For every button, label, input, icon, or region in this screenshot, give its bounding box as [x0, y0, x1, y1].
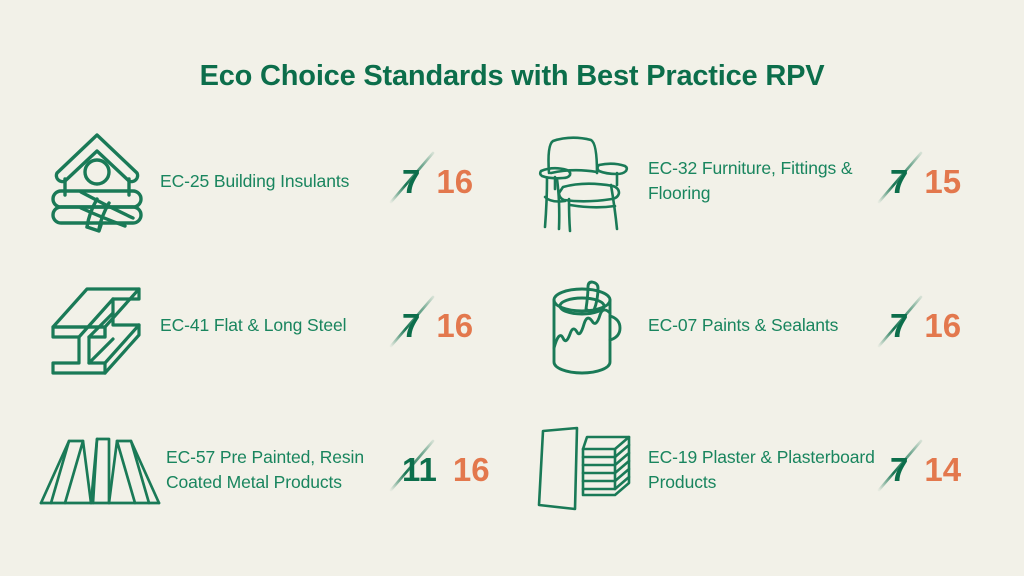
standard-card-ec25[interactable]: EC-25 Building Insulants [28, 109, 508, 253]
rpv-orange-value: 16 [924, 309, 961, 342]
standard-metrics: 7 16 [398, 159, 502, 204]
rpv-green-value-wrap: 7 [886, 303, 910, 348]
steel-beam-icon [34, 271, 160, 379]
rpv-orange-value: 15 [924, 165, 961, 198]
rpv-green-value-wrap: 7 [886, 159, 910, 204]
standard-label: EC-57 Pre Painted, Resin Coated Metal Pr… [166, 445, 398, 495]
standard-metrics: 7 16 [398, 303, 502, 348]
standard-card-ec32[interactable]: EC-32 Furniture, Fittings & Flooring 7 1… [516, 109, 996, 253]
rpv-green-value: 11 [402, 451, 437, 488]
standard-card-ec41[interactable]: EC-41 Flat & Long Steel 7 16 [28, 253, 508, 397]
rpv-green-value: 7 [890, 163, 908, 200]
rpv-orange-value: 16 [453, 453, 490, 486]
standard-label: EC-07 Paints & Sealants [648, 313, 886, 338]
armchair-icon [522, 127, 648, 235]
standard-metrics: 7 14 [886, 447, 990, 492]
rpv-green-value: 7 [402, 163, 420, 200]
rpv-green-value-wrap: 11 [398, 447, 439, 492]
standard-label: EC-32 Furniture, Fittings & Flooring [648, 156, 886, 206]
rpv-orange-value: 16 [436, 165, 473, 198]
rpv-green-value-wrap: 7 [398, 159, 422, 204]
standard-metrics: 7 16 [886, 303, 990, 348]
house-scarf-icon [34, 127, 160, 235]
standard-label: EC-19 Plaster & Plasterboard Products [648, 445, 886, 495]
rpv-green-value: 7 [890, 451, 908, 488]
rpv-green-value-wrap: 7 [886, 447, 910, 492]
plasterboard-icon [522, 416, 648, 524]
standard-label: EC-41 Flat & Long Steel [160, 313, 398, 338]
standard-metrics: 11 16 [398, 447, 502, 492]
rpv-green-value: 7 [890, 307, 908, 344]
page-title: Eco Choice Standards with Best Practice … [0, 60, 1024, 93]
infographic-root: Eco Choice Standards with Best Practice … [0, 0, 1024, 576]
standard-card-ec07[interactable]: EC-07 Paints & Sealants 7 16 [516, 253, 996, 397]
standards-grid: EC-25 Building Insulants [0, 103, 1024, 576]
rpv-orange-value: 16 [436, 309, 473, 342]
rpv-green-value: 7 [402, 307, 420, 344]
corrugated-metal-icon [34, 416, 166, 524]
rpv-orange-value: 14 [924, 453, 961, 486]
paint-can-icon [522, 271, 648, 379]
rpv-green-value-wrap: 7 [398, 303, 422, 348]
standard-card-ec19[interactable]: EC-19 Plaster & Plasterboard Products 7 … [516, 398, 996, 542]
standard-label: EC-25 Building Insulants [160, 169, 398, 194]
standard-card-ec57[interactable]: EC-57 Pre Painted, Resin Coated Metal Pr… [28, 398, 508, 542]
standard-metrics: 7 15 [886, 159, 990, 204]
